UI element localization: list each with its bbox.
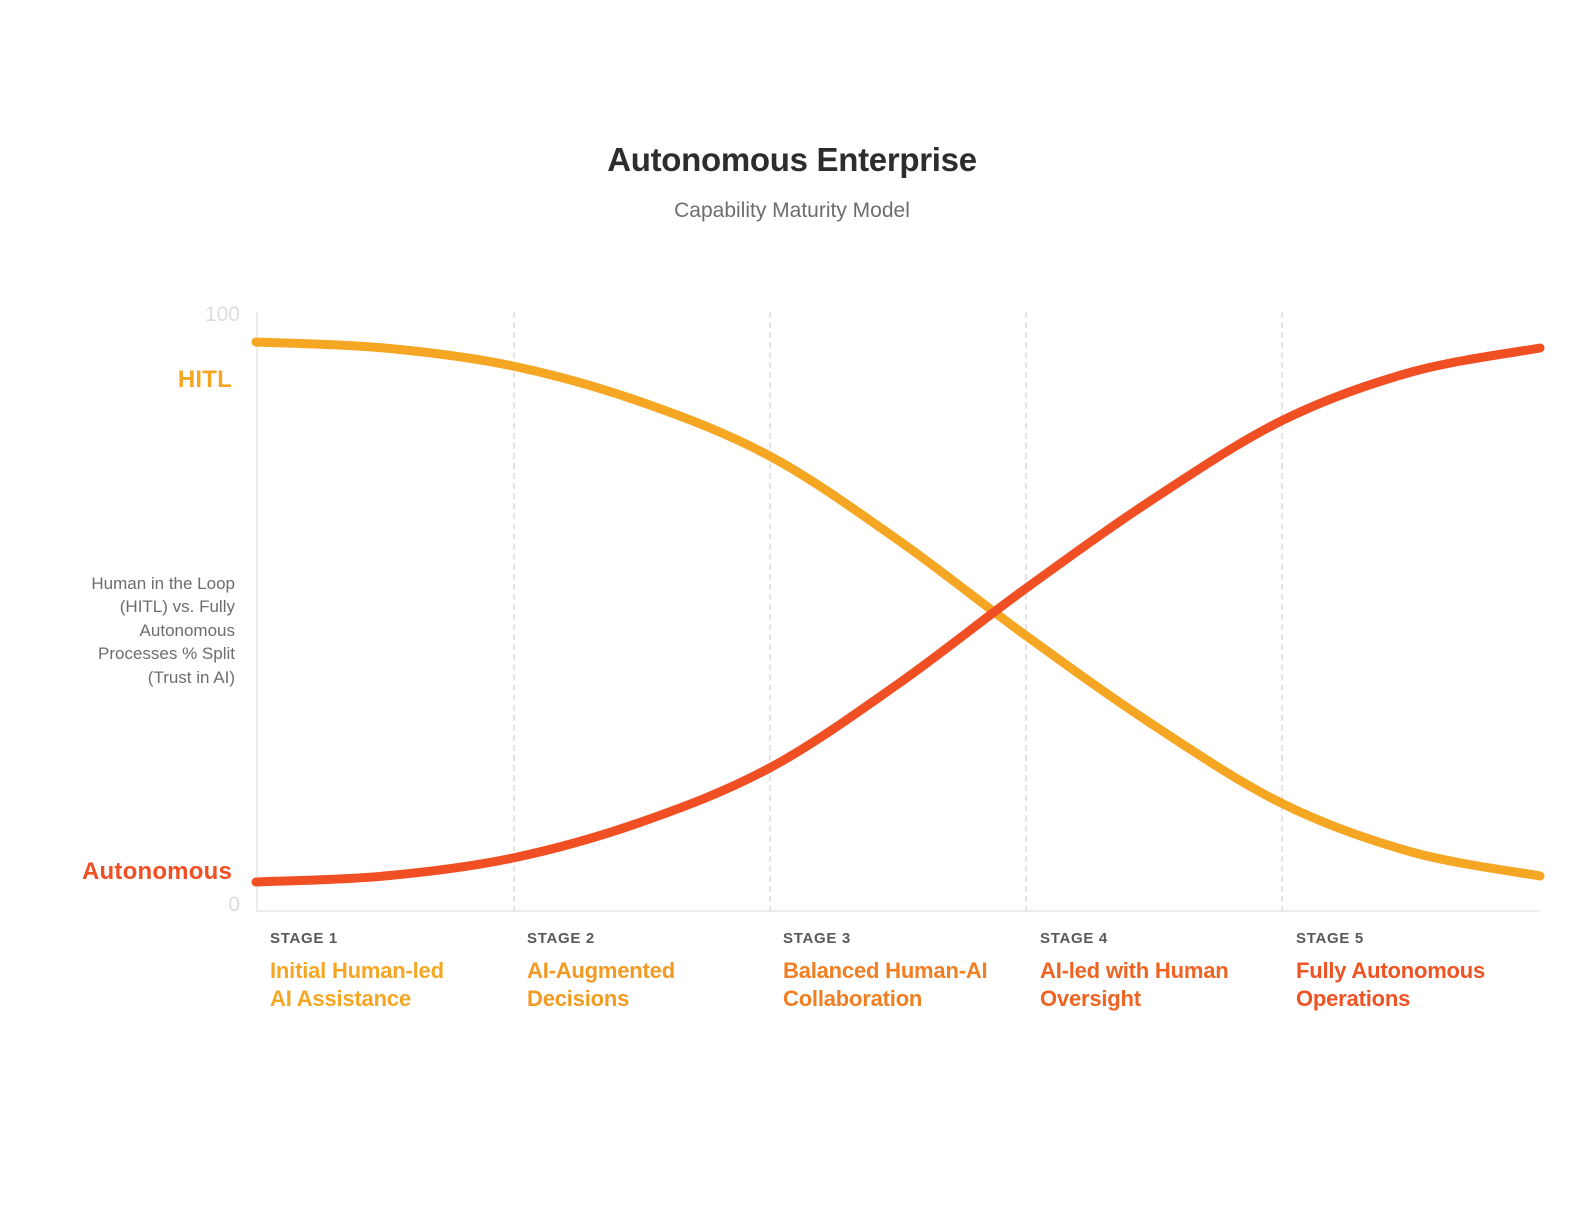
stage-name-3-line-1: Balanced Human-AI (783, 958, 987, 983)
stage-item-5[interactable]: STAGE 5 Fully Autonomous Operations (1296, 930, 1558, 1013)
page-title: Autonomous Enterprise (0, 140, 1584, 180)
stage-name-3: Balanced Human-AI Collaboration (783, 957, 1045, 1013)
series-label-hitl: HITL (178, 366, 232, 394)
stage-name-3-line-2: Collaboration (783, 986, 922, 1011)
y-axis-tick-min: 0 (228, 893, 240, 917)
y-axis-label-line-4: Processes % Split (55, 642, 235, 665)
stage-name-2-line-2: Decisions (527, 986, 629, 1011)
y-axis-label: Human in the Loop (HITL) vs. Fully Auton… (55, 572, 235, 689)
line-series-autonomous (256, 348, 1540, 882)
y-axis-label-line-3: Autonomous (55, 619, 235, 642)
stage-name-5: Fully Autonomous Operations (1296, 957, 1558, 1013)
stage-kicker-5: STAGE 5 (1296, 930, 1558, 948)
stage-name-5-line-2: Operations (1296, 986, 1410, 1011)
chart-header: Autonomous Enterprise Capability Maturit… (0, 140, 1584, 223)
stage-kicker-1: STAGE 1 (270, 930, 520, 948)
stage-name-5-line-1: Fully Autonomous (1296, 958, 1485, 983)
stage-item-2[interactable]: STAGE 2 AI-Augmented Decisions (527, 930, 777, 1013)
line-series-hitl (256, 342, 1540, 876)
curves-layer (256, 312, 1540, 912)
stage-legend: STAGE 1 Initial Human-led AI Assistance … (256, 930, 1556, 1040)
stage-name-1: Initial Human-led AI Assistance (270, 957, 520, 1013)
stage-name-4: AI-led with Human Oversight (1040, 957, 1302, 1013)
stage-kicker-2: STAGE 2 (527, 930, 777, 948)
stage-kicker-4: STAGE 4 (1040, 930, 1302, 948)
stage-item-3[interactable]: STAGE 3 Balanced Human-AI Collaboration (783, 930, 1045, 1013)
stage-item-4[interactable]: STAGE 4 AI-led with Human Oversight (1040, 930, 1302, 1013)
stage-kicker-3: STAGE 3 (783, 930, 1045, 948)
stage-name-2-line-1: AI-Augmented (527, 958, 675, 983)
page-subtitle: Capability Maturity Model (0, 198, 1584, 223)
y-axis-tick-max: 100 (205, 303, 240, 327)
stage-name-2: AI-Augmented Decisions (527, 957, 777, 1013)
series-label-autonomous: Autonomous (82, 858, 232, 886)
stage-name-4-line-1: AI-led with Human (1040, 958, 1229, 983)
y-axis-label-line-1: Human in the Loop (55, 572, 235, 595)
y-axis-label-line-5: (Trust in AI) (55, 666, 235, 689)
stage-name-1-line-1: Initial Human-led (270, 958, 444, 983)
stage-name-1-line-2: AI Assistance (270, 986, 411, 1011)
stage-item-1[interactable]: STAGE 1 Initial Human-led AI Assistance (270, 930, 520, 1013)
chart-page: { "header": { "title": "Autonomous Enter… (0, 0, 1584, 1224)
stage-name-4-line-2: Oversight (1040, 986, 1141, 1011)
y-axis-label-line-2: (HITL) vs. Fully (55, 595, 235, 618)
